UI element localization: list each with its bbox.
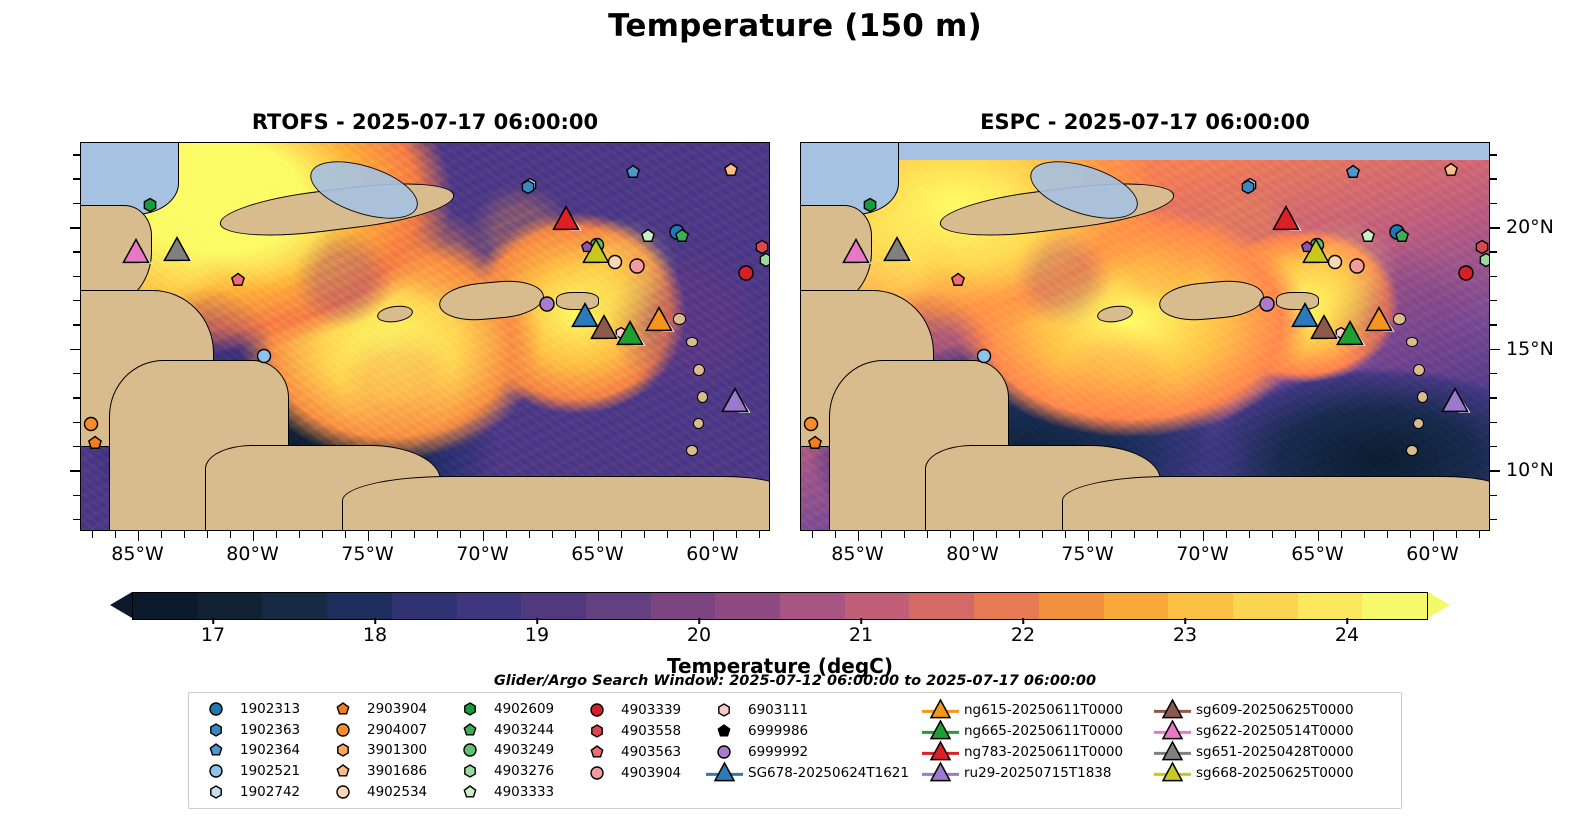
legend-label: sg651-20250428T0000 xyxy=(1196,744,1354,760)
y-axis-label: 20°N xyxy=(1506,216,1554,238)
x-tick-minor xyxy=(529,531,530,538)
x-axis-label: 65°W xyxy=(1291,543,1343,565)
x-axis-label: 80°W xyxy=(946,543,998,565)
colorbar-tick-label: 22 xyxy=(1011,624,1035,646)
map-marker-argo-4903333 xyxy=(639,227,656,244)
legend-column-argo-col-1: 19023131902363190236419025211902742 xyxy=(199,699,326,802)
colorbar-segment xyxy=(845,593,910,619)
x-tick-minor xyxy=(92,531,93,538)
x-tick-minor xyxy=(575,531,576,538)
x-axis-label: 70°W xyxy=(1176,543,1228,565)
map-marker-glider-ng615 xyxy=(644,304,674,334)
x-tick xyxy=(858,531,860,541)
legend-entry[interactable]: 4903244 xyxy=(453,720,580,741)
colorbar-segment xyxy=(198,593,263,619)
legend-column-glider-col-7: sg609-20250625T0000sg622-20250514T0000sg… xyxy=(1155,699,1387,802)
y-tick xyxy=(70,227,80,229)
map-marker-argo-1902363 xyxy=(1240,179,1257,196)
map-marker-glider-ru29 xyxy=(720,385,750,415)
x-axis-label: 80°W xyxy=(226,543,278,565)
legend-marker-pentagon-icon xyxy=(199,742,233,758)
colorbar-segment xyxy=(1039,593,1104,619)
legend-label: 3901686 xyxy=(367,763,427,779)
x-tick-minor xyxy=(1456,531,1457,538)
map-marker-argo-6999986 xyxy=(1300,239,1315,254)
legend-entry[interactable]: 4902609 xyxy=(453,699,580,720)
legend-label: 1902364 xyxy=(240,742,300,758)
legend-marker-hexagon-icon xyxy=(326,742,360,758)
colorbar-extend-high xyxy=(1428,592,1450,618)
map-marker-argo-4903276 xyxy=(1478,251,1490,268)
map-marker-glider-sg622 xyxy=(121,236,151,266)
legend-label: 1902363 xyxy=(240,722,300,738)
y-tick-minor xyxy=(73,300,80,301)
legend-marker-hexagon-icon xyxy=(580,723,614,739)
legend-marker-triangle-icon xyxy=(923,741,957,762)
x-tick-minor xyxy=(812,531,813,538)
x-axis-label: 60°W xyxy=(1406,543,1458,565)
colorbar-tick-label: 23 xyxy=(1173,624,1197,646)
x-tick-minor xyxy=(1479,531,1480,538)
y-tick-minor xyxy=(1490,178,1497,179)
x-tick xyxy=(1433,531,1435,541)
y-tick-minor xyxy=(1490,519,1497,520)
y-tick-minor xyxy=(73,251,80,252)
map-marker-glider-sg622 xyxy=(841,236,871,266)
x-tick-minor xyxy=(322,531,323,538)
legend-marker-pentagon-icon xyxy=(707,723,741,739)
legend-column-argo-col-2: 29039042904007390130039016864902534 xyxy=(326,699,453,802)
legend-marker-triangle-icon xyxy=(1155,741,1189,762)
colorbar-segment xyxy=(909,593,974,619)
map-marker-argo-2904007 xyxy=(803,415,820,432)
x-tick-minor xyxy=(207,531,208,538)
x-axis-label: 85°W xyxy=(831,543,883,565)
x-axis-label: 75°W xyxy=(1061,543,1113,565)
map-marker-glider-ng665 xyxy=(1335,318,1365,348)
panel-rtofs: RTOFS - 2025-07-17 06:00:00 xyxy=(80,142,770,531)
y-tick-minor xyxy=(1490,324,1497,325)
map-rtofs[interactable] xyxy=(80,142,770,531)
x-tick-minor xyxy=(437,531,438,538)
legend-entry[interactable]: 4903563 xyxy=(580,741,707,762)
legend-entry[interactable]: 1902363 xyxy=(199,720,326,741)
x-tick xyxy=(368,531,370,541)
legend-entry[interactable]: 6999986 xyxy=(707,720,923,741)
legend-entry[interactable]: SG678-20250624T1621 xyxy=(707,762,923,783)
legend-marker-triangle-icon xyxy=(1155,762,1189,783)
legend-marker-circle-icon xyxy=(326,784,360,800)
x-tick-minor xyxy=(1157,531,1158,538)
y-tick-minor xyxy=(1490,373,1497,374)
x-tick-minor xyxy=(414,531,415,538)
legend-marker-triangle-icon xyxy=(707,762,741,783)
y-tick-minor xyxy=(73,446,80,447)
map-marker-argo-6999992 xyxy=(1258,295,1276,313)
legend-label: 4903558 xyxy=(621,723,681,739)
y-tick-minor xyxy=(73,519,80,520)
colorbar-segment xyxy=(262,593,327,619)
map-marker-argo-4902534 xyxy=(1326,254,1343,271)
legend-marker-pentagon-icon xyxy=(453,722,487,738)
legend-label: 1902742 xyxy=(240,784,300,800)
legend-label: 3901300 xyxy=(367,742,427,758)
map-marker-argo-2903904 xyxy=(806,434,823,451)
legend-label: sg609-20250625T0000 xyxy=(1196,702,1354,718)
panel-espc-title: ESPC - 2025-07-17 06:00:00 xyxy=(800,110,1490,134)
legend-marker-circle-icon xyxy=(707,744,741,760)
x-tick-minor xyxy=(1341,531,1342,538)
y-tick-minor xyxy=(1490,276,1497,277)
x-tick-minor xyxy=(276,531,277,538)
y-tick xyxy=(1490,470,1500,472)
colorbar-segment xyxy=(1233,593,1298,619)
x-tick-minor xyxy=(1364,531,1365,538)
legend-entry[interactable]: 4903249 xyxy=(453,740,580,761)
marker-layer-espc xyxy=(801,143,1489,530)
colorbar-tick-label: 21 xyxy=(849,624,873,646)
map-marker-argo-1902364 xyxy=(1344,164,1361,181)
legend-marker-circle-icon xyxy=(199,701,233,717)
x-tick-minor xyxy=(759,531,760,538)
legend-entry[interactable]: 4903904 xyxy=(580,762,707,783)
x-tick-minor xyxy=(391,531,392,538)
legend-marker-circle-icon xyxy=(326,722,360,738)
map-espc[interactable] xyxy=(800,142,1490,531)
legend-column-argo-col-3: 49026094903244490324949032764903333 xyxy=(453,699,580,802)
map-marker-argo-6999986 xyxy=(580,239,595,254)
legend-label: 4903904 xyxy=(621,765,681,781)
x-axis-label: 85°W xyxy=(111,543,163,565)
x-tick-minor xyxy=(1410,531,1411,538)
colorbar-segment xyxy=(586,593,651,619)
legend-column-glider-col-6: ng615-20250611T0000ng665-20250611T0000ng… xyxy=(923,699,1155,802)
legend-marker-pentagon-icon xyxy=(326,763,360,779)
legend-marker-pentagon-icon xyxy=(326,701,360,717)
map-marker-argo-4902609 xyxy=(141,196,158,213)
map-marker-argo-1902363 xyxy=(520,179,537,196)
colorbar-segment xyxy=(715,593,780,619)
x-tick-minor xyxy=(1042,531,1043,538)
x-tick-minor xyxy=(736,531,737,538)
legend-column-argo-col-5: 690311169999866999992SG678-20250624T1621 xyxy=(707,699,923,802)
legend-marker-triangle-icon xyxy=(923,720,957,741)
x-tick xyxy=(1088,531,1090,541)
legend-entry[interactable]: 1902521 xyxy=(199,761,326,782)
colorbar-tick-label: 17 xyxy=(201,624,225,646)
x-tick-minor xyxy=(460,531,461,538)
marker-layer-rtofs xyxy=(81,143,769,530)
map-marker-argo-3901686 xyxy=(723,162,740,179)
map-marker-argo-4902609 xyxy=(861,196,878,213)
map-marker-argo-4903244 xyxy=(674,227,691,244)
x-tick xyxy=(1203,531,1205,541)
colorbar-segment xyxy=(780,593,845,619)
x-tick-minor xyxy=(1295,531,1296,538)
map-marker-glider-ru29 xyxy=(1440,385,1470,415)
legend-marker-triangle-icon xyxy=(1155,699,1189,720)
x-tick-minor xyxy=(1134,531,1135,538)
legend-label: ng615-20250611T0000 xyxy=(964,702,1123,718)
map-marker-argo-4903904 xyxy=(1348,257,1366,275)
legend-entry[interactable]: 3901686 xyxy=(326,761,453,782)
colorbar-segment xyxy=(521,593,586,619)
x-tick xyxy=(598,531,600,541)
x-tick xyxy=(973,531,975,541)
legend-entry[interactable]: sg651-20250428T0000 xyxy=(1155,741,1387,762)
x-tick-minor xyxy=(299,531,300,538)
x-tick-minor xyxy=(927,531,928,538)
colorbar-segment xyxy=(457,593,522,619)
x-tick xyxy=(713,531,715,541)
legend-entry[interactable]: 1902364 xyxy=(199,740,326,761)
y-tick-minor xyxy=(1490,495,1497,496)
y-tick-minor xyxy=(73,324,80,325)
y-tick-minor xyxy=(73,203,80,204)
legend-entry[interactable]: 4903558 xyxy=(580,720,707,741)
y-tick-minor xyxy=(1490,300,1497,301)
y-tick-minor xyxy=(1490,154,1497,155)
legend-label: 6999992 xyxy=(748,744,808,760)
map-marker-glider-sg651 xyxy=(162,234,192,264)
x-axis-label: 75°W xyxy=(341,543,393,565)
map-marker-argo-4902534 xyxy=(606,254,623,271)
legend-marker-triangle-icon xyxy=(923,762,957,783)
y-tick xyxy=(70,470,80,472)
legend-entry[interactable]: 4903276 xyxy=(453,761,580,782)
legend-marker-triangle-icon xyxy=(923,699,957,720)
x-tick-minor xyxy=(996,531,997,538)
legend-label: 4903244 xyxy=(494,722,554,738)
colorbar-segment xyxy=(1362,593,1427,619)
legend-marker-hexagon-icon xyxy=(453,763,487,779)
legend-entry[interactable]: sg668-20250625T0000 xyxy=(1155,762,1387,783)
map-marker-argo-1902521 xyxy=(256,347,273,364)
colorbar-segment xyxy=(392,593,457,619)
y-tick-minor xyxy=(1490,203,1497,204)
legend-label: SG678-20250624T1621 xyxy=(748,765,909,781)
legend-entry[interactable]: ng615-20250611T0000 xyxy=(923,699,1155,720)
legend-entry[interactable]: ng783-20250611T0000 xyxy=(923,741,1155,762)
x-tick-minor xyxy=(904,531,905,538)
map-marker-argo-4903339 xyxy=(737,264,755,282)
y-tick-minor xyxy=(73,397,80,398)
x-axis-label: 70°W xyxy=(456,543,508,565)
legend-label: ng783-20250611T0000 xyxy=(964,744,1123,760)
x-tick-minor xyxy=(115,531,116,538)
y-tick-minor xyxy=(73,373,80,374)
x-tick-minor xyxy=(552,531,553,538)
x-tick-minor xyxy=(644,531,645,538)
legend-entry[interactable]: 3901300 xyxy=(326,740,453,761)
legend-label: 6903111 xyxy=(748,702,808,718)
legend-marker-circle-icon xyxy=(199,763,233,779)
y-tick xyxy=(70,349,80,351)
legend-entry[interactable]: sg622-20250514T0000 xyxy=(1155,720,1387,741)
x-tick-minor xyxy=(881,531,882,538)
y-axis-label: 20°N xyxy=(0,216,66,238)
x-tick-minor xyxy=(835,531,836,538)
legend-marker-circle-icon xyxy=(580,765,614,781)
legend-entry[interactable]: ng665-20250611T0000 xyxy=(923,720,1155,741)
x-tick xyxy=(483,531,485,541)
legend-column-argo-col-4: 4903339490355849035634903904 xyxy=(580,699,707,802)
colorbar-tick-label: 18 xyxy=(363,624,387,646)
colorbar-segment xyxy=(1298,593,1363,619)
x-tick-minor xyxy=(345,531,346,538)
map-marker-argo-4903563 xyxy=(229,272,246,289)
x-axis-label: 65°W xyxy=(571,543,623,565)
colorbar-segment xyxy=(327,593,392,619)
legend-label: 4903249 xyxy=(494,742,554,758)
y-tick-minor xyxy=(73,178,80,179)
colorbar-segment xyxy=(133,593,198,619)
map-marker-argo-4903333 xyxy=(1359,227,1376,244)
y-tick-minor xyxy=(1490,446,1497,447)
x-tick xyxy=(253,531,255,541)
legend-entry[interactable]: 2903904 xyxy=(326,699,453,720)
legend-marker-pentagon-icon xyxy=(453,784,487,800)
map-marker-argo-6999992 xyxy=(538,295,556,313)
y-tick-minor xyxy=(73,154,80,155)
legend-label: 4902609 xyxy=(494,701,554,717)
map-marker-argo-1902521 xyxy=(976,347,993,364)
legend-entry[interactable]: 1902742 xyxy=(199,781,326,802)
colorbar-tick-label: 24 xyxy=(1335,624,1359,646)
x-tick-minor xyxy=(161,531,162,538)
legend-entry[interactable]: sg609-20250625T0000 xyxy=(1155,699,1387,720)
x-tick-minor xyxy=(1019,531,1020,538)
figure-root: Temperature (150 m) RTOFS - 2025-07-17 0… xyxy=(0,0,1590,829)
map-marker-argo-1902364 xyxy=(624,164,641,181)
x-tick-minor xyxy=(1387,531,1388,538)
legend-entry[interactable]: 4903339 xyxy=(580,699,707,720)
map-marker-argo-4903339 xyxy=(1457,264,1475,282)
legend-label: 1902521 xyxy=(240,763,300,779)
legend-label: 6999986 xyxy=(748,723,808,739)
x-tick-minor xyxy=(950,531,951,538)
legend-marker-hexagon-icon xyxy=(707,702,741,718)
panel-espc: ESPC - 2025-07-17 06:00:00 xyxy=(800,142,1490,531)
x-tick-minor xyxy=(230,531,231,538)
legend-marker-circle-icon xyxy=(453,742,487,758)
y-axis-label: 15°N xyxy=(1506,338,1554,360)
x-tick-minor xyxy=(667,531,668,538)
colorbar-segment xyxy=(1104,593,1169,619)
y-tick-minor xyxy=(1490,397,1497,398)
map-marker-glider-ng615 xyxy=(1364,304,1394,334)
legend-marker-circle-icon xyxy=(580,702,614,718)
map-marker-argo-2903904 xyxy=(86,434,103,451)
y-axis-label: 10°N xyxy=(1506,459,1554,481)
y-tick-minor xyxy=(73,495,80,496)
legend-marker-hexagon-icon xyxy=(453,701,487,717)
x-axis-label: 60°W xyxy=(686,543,738,565)
x-tick-minor xyxy=(184,531,185,538)
colorbar-segment xyxy=(974,593,1039,619)
map-marker-argo-2904007 xyxy=(83,415,100,432)
y-tick-minor xyxy=(1490,422,1497,423)
legend-label: ng665-20250611T0000 xyxy=(964,723,1123,739)
legend-label: 2904007 xyxy=(367,722,427,738)
y-tick xyxy=(1490,349,1500,351)
map-marker-argo-4903904 xyxy=(628,257,646,275)
legend-entry[interactable]: ru29-20250715T1838 xyxy=(923,762,1155,783)
legend-label: sg668-20250625T0000 xyxy=(1196,765,1354,781)
legend-marker-hexagon-icon xyxy=(199,784,233,800)
x-tick-minor xyxy=(1111,531,1112,538)
legend-marker-triangle-icon xyxy=(1155,720,1189,741)
x-tick-minor xyxy=(1180,531,1181,538)
search-window-caption: Glider/Argo Search Window: 2025-07-12 06… xyxy=(0,673,1590,689)
x-tick-minor xyxy=(506,531,507,538)
x-tick-minor xyxy=(1249,531,1250,538)
legend-label: 4903563 xyxy=(621,744,681,760)
colorbar-segment xyxy=(1168,593,1233,619)
x-tick-minor xyxy=(621,531,622,538)
legend-entry[interactable]: 6999992 xyxy=(707,741,923,762)
map-marker-glider-ng783 xyxy=(1271,203,1301,233)
legend: 1902313190236319023641902521190274229039… xyxy=(188,692,1402,809)
map-marker-argo-4903563 xyxy=(949,272,966,289)
legend-label: 4903276 xyxy=(494,763,554,779)
page-title: Temperature (150 m) xyxy=(0,8,1590,44)
map-marker-glider-ng665 xyxy=(615,318,645,348)
x-tick xyxy=(138,531,140,541)
colorbar-gradient xyxy=(132,592,1428,620)
map-marker-argo-3901686 xyxy=(1443,162,1460,179)
colorbar-extend-low xyxy=(110,592,132,618)
legend-entry[interactable]: 2904007 xyxy=(326,720,453,741)
map-marker-glider-sg651 xyxy=(882,234,912,264)
legend-label: 1902313 xyxy=(240,701,300,717)
map-marker-argo-4903244 xyxy=(1394,227,1411,244)
y-tick xyxy=(1490,227,1500,229)
x-tick-minor xyxy=(1272,531,1273,538)
map-marker-glider-ng783 xyxy=(551,203,581,233)
panel-rtofs-title: RTOFS - 2025-07-17 06:00:00 xyxy=(80,110,770,134)
x-tick-minor xyxy=(690,531,691,538)
y-axis-label: 10°N xyxy=(0,459,66,481)
legend-label: 4902534 xyxy=(367,784,427,800)
x-tick-minor xyxy=(1065,531,1066,538)
legend-entry[interactable]: 1902313 xyxy=(199,699,326,720)
legend-label: 2903904 xyxy=(367,701,427,717)
legend-label: sg622-20250514T0000 xyxy=(1196,723,1354,739)
colorbar-segment xyxy=(651,593,716,619)
y-axis-label: 15°N xyxy=(0,338,66,360)
legend-marker-hexagon-icon xyxy=(199,722,233,738)
y-tick-minor xyxy=(73,276,80,277)
x-tick xyxy=(1318,531,1320,541)
y-tick-minor xyxy=(73,422,80,423)
y-tick-minor xyxy=(1490,251,1497,252)
legend-entry[interactable]: 6903111 xyxy=(707,699,923,720)
colorbar-tick-label: 20 xyxy=(687,624,711,646)
legend-entry[interactable]: 4902534 xyxy=(326,781,453,802)
legend-label: ru29-20250715T1838 xyxy=(964,765,1111,781)
legend-marker-pentagon-icon xyxy=(580,744,614,760)
map-marker-argo-4903276 xyxy=(758,251,770,268)
legend-entry[interactable]: 4903333 xyxy=(453,781,580,802)
legend-label: 4903333 xyxy=(494,784,554,800)
x-tick-minor xyxy=(1226,531,1227,538)
colorbar-tick-label: 19 xyxy=(525,624,549,646)
legend-label: 4903339 xyxy=(621,702,681,718)
